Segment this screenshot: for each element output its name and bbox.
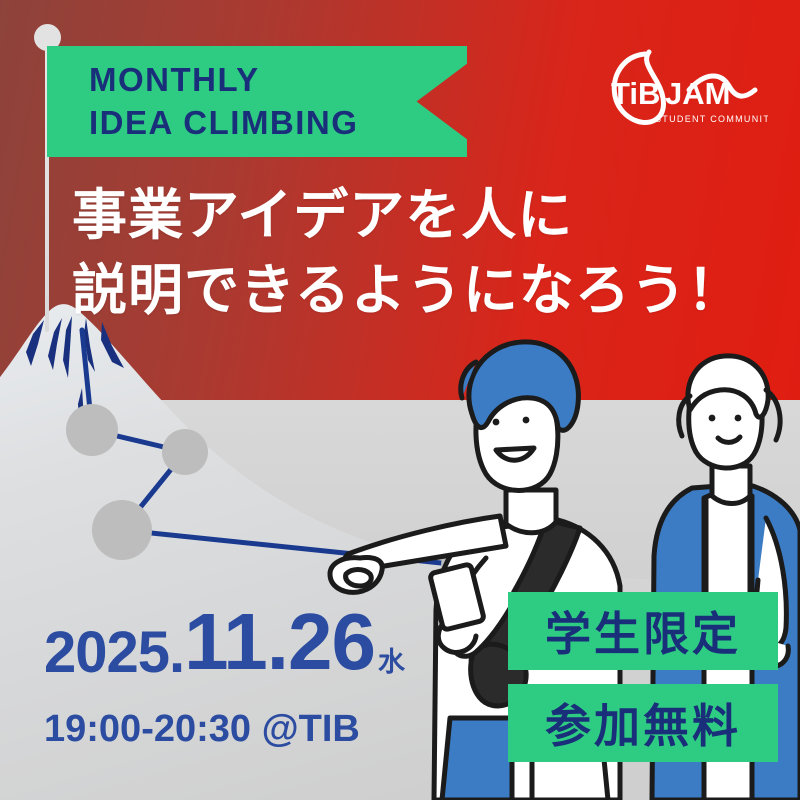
headline-line-1: 事業アイデアを人に [72,178,762,253]
event-time-and-place: 19:00-20:30 @TIB [44,708,404,751]
logo-tagline: STUDENT COMMUNITY [655,114,768,124]
logo-brand-text: TiB [611,76,660,111]
event-year: 2025. [44,624,184,682]
person-left-pants [442,718,512,800]
banner-line-2: IDEA CLIMBING [89,102,467,144]
tibjam-logo: TiB JAM STUDENT COMMUNITY [593,42,768,137]
person-right-neck [712,466,750,504]
logo-brand-text-2: JAM [665,76,730,111]
headline: 事業アイデアを人に 説明できるようになろう！ [72,178,762,329]
badge-free-entry: 参加無料 [508,684,778,762]
event-month-day: 11.26 [184,602,375,682]
person-left-neck [506,490,556,533]
event-date: 2025. 11.26 水 [44,602,404,682]
event-date-block: 2025. 11.26 水 19:00-20:30 @TIB [44,602,404,751]
banner-line-1: MONTHLY [89,59,467,101]
event-day-of-week: 水 [375,649,404,682]
event-poster: MONTHLY IDEA CLIMBING TiB JAM STUDENT CO… [0,0,800,800]
banner-ribbon: MONTHLY IDEA CLIMBING [47,46,467,157]
badge-students-only: 学生限定 [508,592,778,670]
